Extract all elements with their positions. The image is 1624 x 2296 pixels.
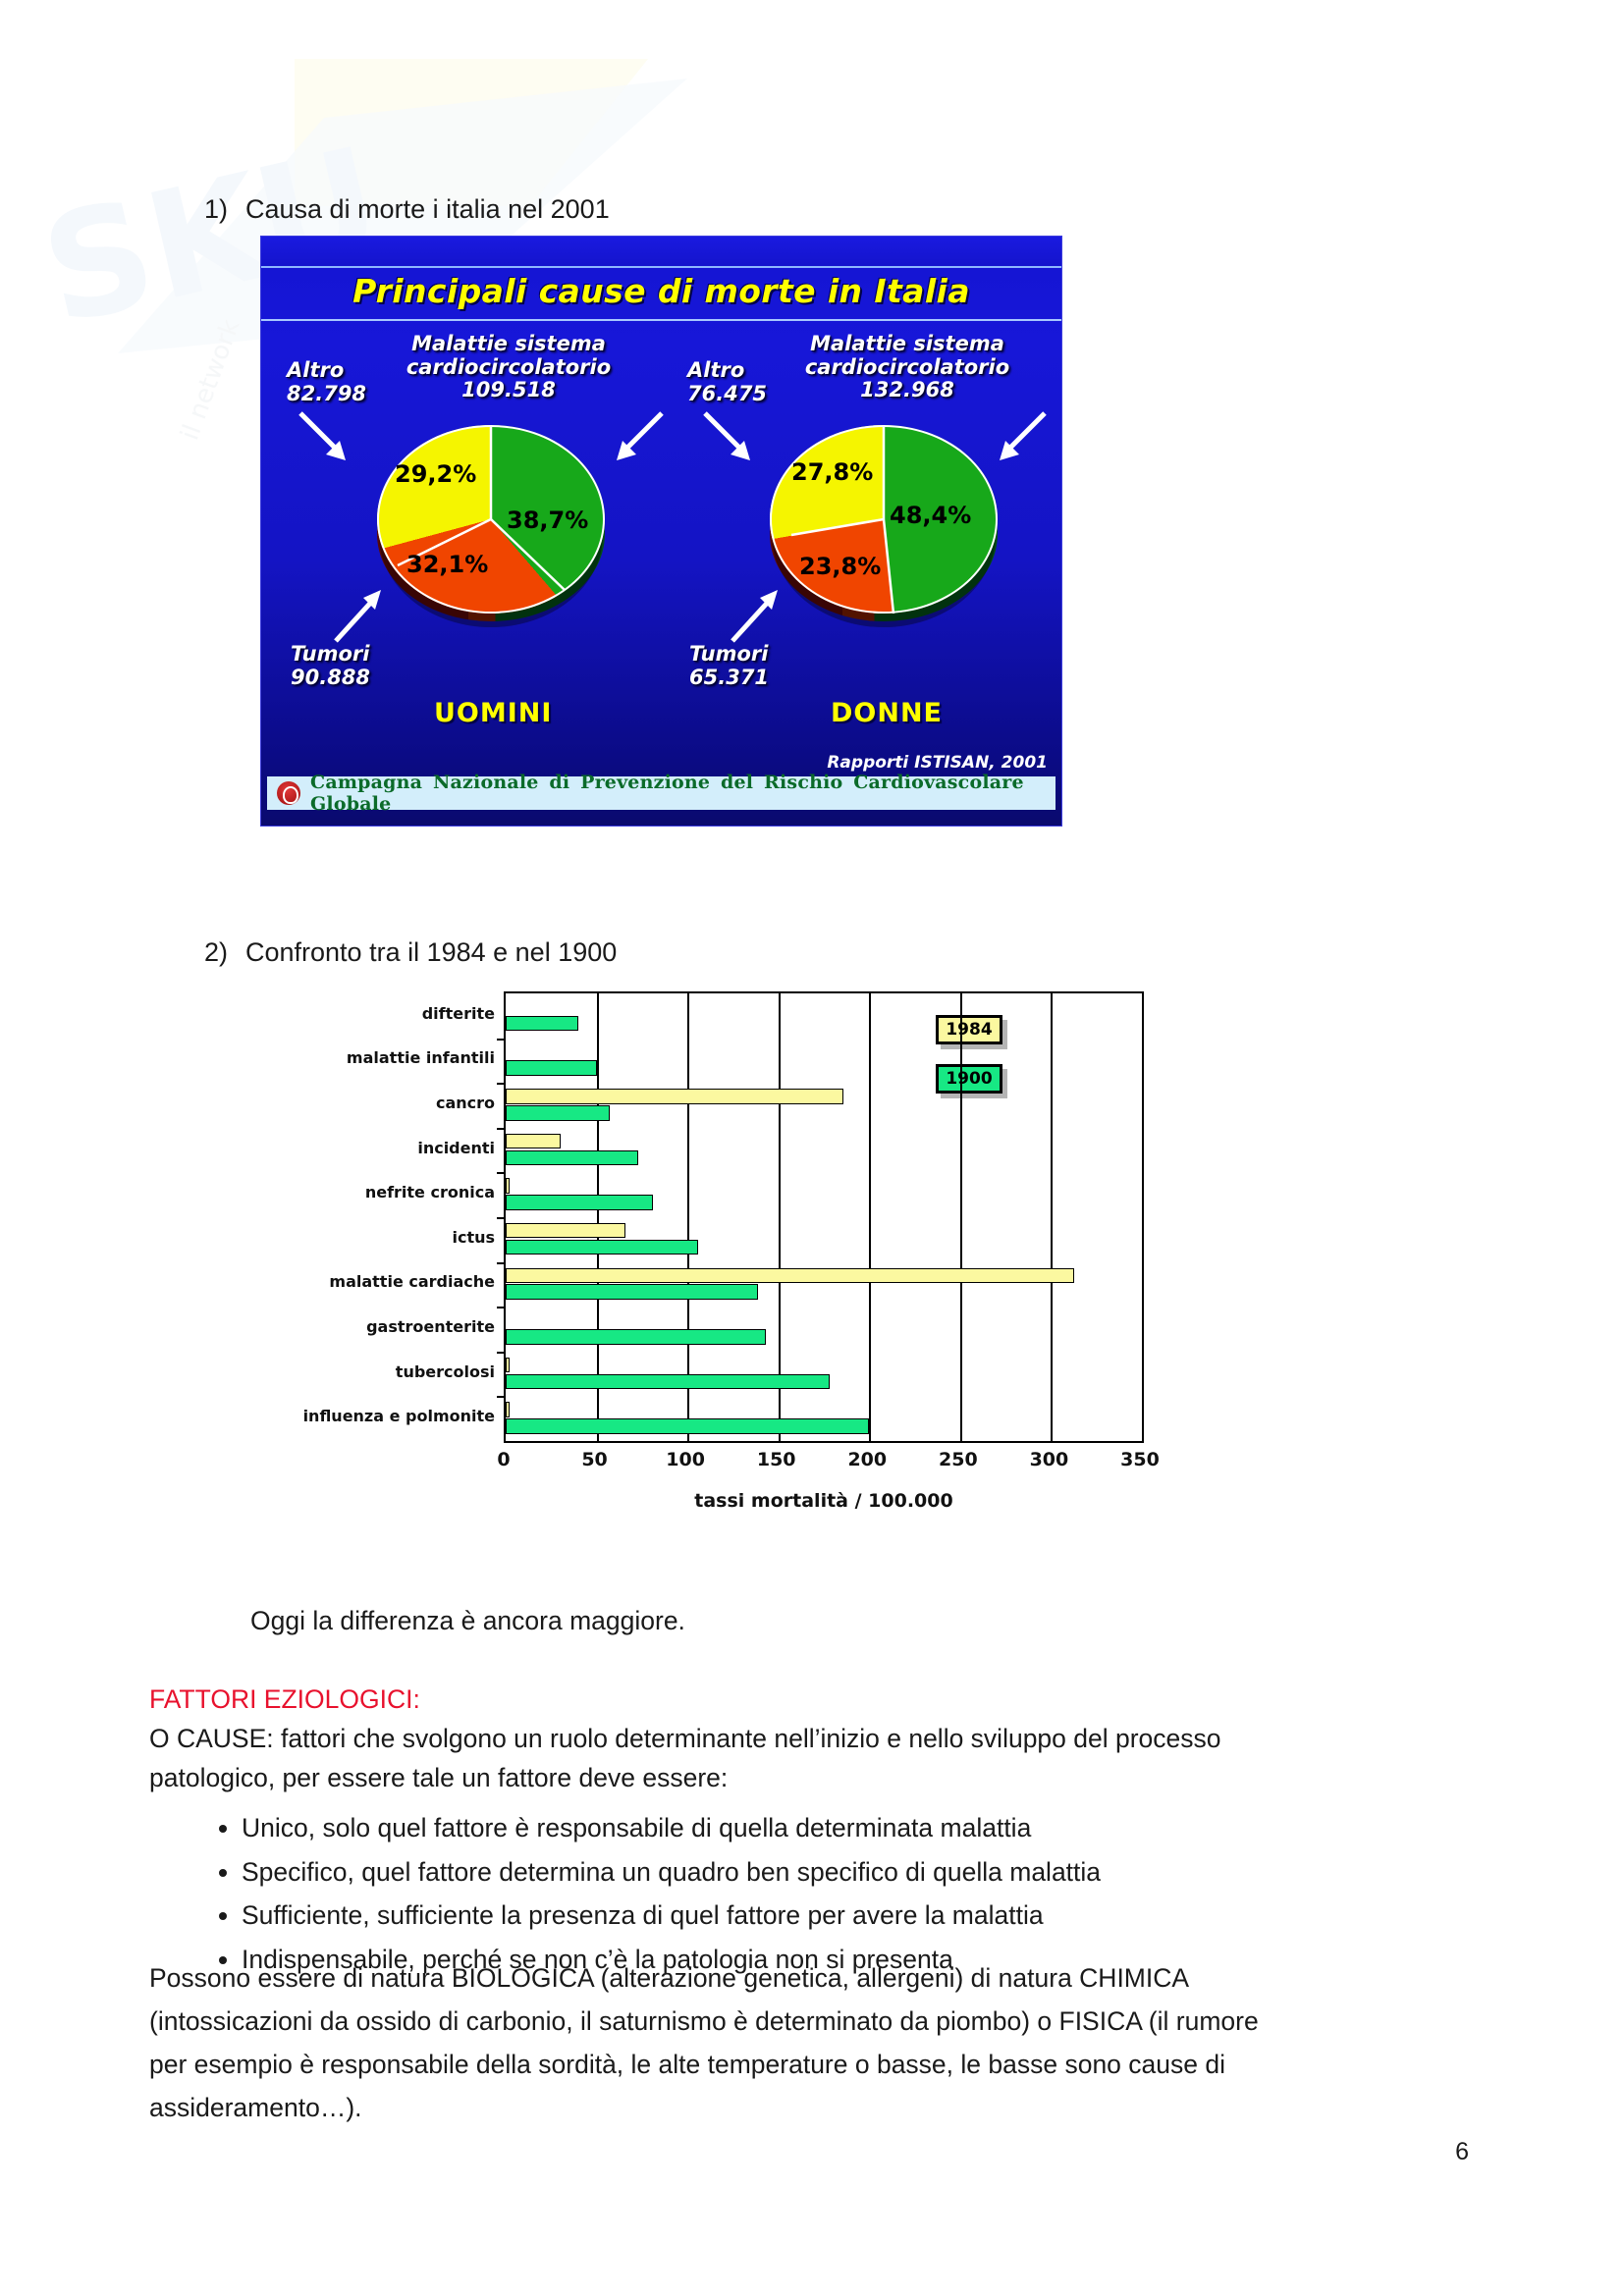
note-text: Oggi la differenza è ancora maggiore. — [250, 1602, 685, 1640]
y-axis-tick — [497, 1083, 506, 1085]
list-item-1-text: Causa di morte i italia nel 2001 — [245, 194, 610, 224]
bar-1984 — [506, 1402, 510, 1417]
bar-1984 — [506, 1178, 510, 1194]
bar-chart-gridline — [869, 993, 871, 1441]
x-tick-label: 250 — [939, 1449, 978, 1470]
bar-1900 — [506, 1105, 610, 1121]
bar-1900 — [506, 1374, 830, 1390]
uomini-tumori-value: 90.888 — [291, 666, 370, 689]
donne-cardio-value: 132.968 — [860, 378, 954, 401]
uomini-pct-altro: 29,2% — [395, 460, 476, 488]
donne-altro-value: 76.475 — [687, 382, 767, 405]
donne-altro-arrow — [701, 409, 760, 466]
uomini-cardio-arrow — [607, 409, 666, 466]
bar-chart-gridline — [1051, 993, 1053, 1441]
y-axis-tick — [497, 1039, 506, 1041]
bar-chart-category-labels: difteritemalattie infantilicancroinciden… — [260, 991, 501, 1443]
legend-chip-1900: 1900 — [936, 1064, 1002, 1094]
list-item-1: 1)Causa di morte i italia nel 2001 — [204, 194, 610, 225]
donne-cardio-label: Malattie sistema cardiocircolatorio 132.… — [803, 333, 1011, 402]
bar-1900 — [506, 1016, 578, 1032]
uomini-altro-label: Altro 82.798 — [287, 359, 366, 405]
y-axis-tick — [497, 1307, 506, 1308]
donne-tumori-arrow — [727, 588, 784, 645]
intro-line-2: patologico, per essere tale un fattore d… — [149, 1759, 728, 1797]
mortality-bar-chart: difteritemalattie infantilicancroinciden… — [260, 991, 1144, 1541]
bar-chart-x-axis-title: tassi mortalità / 100.000 — [504, 1490, 1144, 1512]
uomini-altro-value: 82.798 — [287, 382, 366, 405]
x-tick-label: 100 — [666, 1449, 705, 1470]
pie-donne-gender: DONNE — [831, 698, 943, 728]
list-item-2-text: Confronto tra il 1984 e nel 1900 — [245, 937, 617, 967]
x-tick-label: 300 — [1030, 1449, 1069, 1470]
pie-uomini-gender: UOMINI — [434, 698, 552, 728]
slide-title: Principali cause di morte in Italia — [261, 272, 1061, 310]
bar-chart-x-tick-labels: 050100150200250300350 — [504, 1449, 1144, 1480]
uomini-pct-cardio: 38,7% — [507, 507, 588, 534]
bar-chart-category-label: gastroenterite — [366, 1317, 495, 1336]
x-tick-label: 350 — [1120, 1449, 1160, 1470]
slide-title-rule — [261, 319, 1061, 321]
x-tick-label: 0 — [497, 1449, 510, 1470]
bar-1984 — [506, 1268, 1074, 1284]
section-heading-fattori-eziologici: FATTORI EZIOLOGICI: — [149, 1681, 420, 1719]
donne-pct-tumori: 23,8% — [799, 553, 881, 580]
campaign-banner: Campagna Nazionale di Prevenzione del Ri… — [267, 776, 1056, 810]
bar-chart-category-label: incidenti — [417, 1139, 495, 1157]
x-tick-label: 50 — [581, 1449, 607, 1470]
bar-1900 — [506, 1060, 597, 1076]
y-axis-tick — [497, 1128, 506, 1130]
page-number: 6 — [1455, 2138, 1469, 2166]
x-tick-label: 150 — [757, 1449, 796, 1470]
donne-pct-cardio: 48,4% — [890, 502, 971, 529]
campaign-text: Campagna Nazionale di Prevenzione del Ri… — [310, 772, 1056, 815]
uomini-tumori-label: Tumori 90.888 — [291, 643, 370, 689]
criteria-bullet-item: Unico, solo quel fattore è responsabile … — [242, 1806, 1168, 1850]
bar-1984 — [506, 1134, 561, 1149]
uomini-cardio-value: 109.518 — [461, 378, 556, 401]
bar-chart-category-label: malattie infantili — [347, 1048, 495, 1067]
y-axis-tick — [497, 1262, 506, 1264]
bar-1900 — [506, 1240, 698, 1255]
bar-1984 — [506, 1223, 625, 1239]
bar-chart-category-label: cancro — [436, 1094, 495, 1112]
bar-chart-plot-area: 1984 1900 — [504, 991, 1144, 1443]
bar-chart-category-label: nefrite cronica — [365, 1183, 495, 1201]
slide-source: Rapporti ISTISAN, 2001 — [827, 753, 1048, 773]
bar-1984 — [506, 1358, 510, 1373]
legend-chip-1984: 1984 — [936, 1015, 1002, 1044]
x-tick-label: 200 — [847, 1449, 887, 1470]
slide-top-bar — [261, 237, 1061, 268]
y-axis-tick — [497, 1172, 506, 1174]
y-axis-tick — [497, 1352, 506, 1354]
donne-pct-altro: 27,8% — [791, 458, 873, 486]
donne-tumori-value: 65.371 — [689, 666, 769, 689]
list-item-2: 2)Confronto tra il 1984 e nel 1900 — [204, 937, 617, 968]
bar-chart-category-label: influenza e polmonite — [303, 1407, 495, 1425]
y-axis-tick — [497, 1217, 506, 1219]
donne-altro-label: Altro 76.475 — [687, 359, 767, 405]
closing-line-3: per esempio è responsabile della sordità… — [149, 2046, 1225, 2084]
uomini-tumori-arrow — [330, 588, 387, 645]
uomini-pct-tumori: 32,1% — [406, 551, 488, 578]
bar-chart-category-label: tubercolosi — [396, 1362, 495, 1381]
criteria-bullet-item: Sufficiente, sufficiente la presenza di … — [242, 1894, 1168, 1938]
uomini-altro-arrow — [297, 409, 355, 466]
closing-line-2: (intossicazioni da ossido di carbonio, i… — [149, 2002, 1259, 2041]
list-item-2-number: 2) — [204, 937, 245, 968]
criteria-bullet-item: Specifico, quel fattore determina un qua… — [242, 1850, 1168, 1895]
bar-1900 — [506, 1329, 766, 1345]
uomini-cardio-label: Malattie sistema cardiocircolatorio 109.… — [405, 333, 613, 402]
pie-chart-slide: Principali cause di morte in Italia Mala… — [260, 236, 1062, 827]
closing-line-1: Possono essere di natura BIOLOGICA (alte… — [149, 1959, 1189, 1998]
campaign-logo-icon — [277, 781, 300, 805]
bar-1900 — [506, 1195, 653, 1210]
bar-chart-category-label: ictus — [452, 1228, 495, 1247]
bar-1900 — [506, 1284, 758, 1300]
donne-cardio-arrow — [990, 409, 1049, 466]
donne-tumori-label: Tumori 65.371 — [689, 643, 769, 689]
bar-1900 — [506, 1150, 638, 1166]
y-axis-tick — [497, 1396, 506, 1398]
bar-1900 — [506, 1418, 869, 1434]
list-item-1-number: 1) — [204, 194, 245, 225]
bar-1984 — [506, 1089, 843, 1104]
intro-line-1: O CAUSE: fattori che svolgono un ruolo d… — [149, 1720, 1221, 1758]
bar-chart-category-label: difterite — [422, 1004, 495, 1023]
bar-chart-category-label: malattie cardiache — [329, 1272, 495, 1291]
bar-chart-gridline — [960, 993, 962, 1441]
closing-line-4: assideramento…). — [149, 2089, 362, 2127]
criteria-bullet-list: Unico, solo quel fattore è responsabile … — [187, 1806, 1168, 1981]
